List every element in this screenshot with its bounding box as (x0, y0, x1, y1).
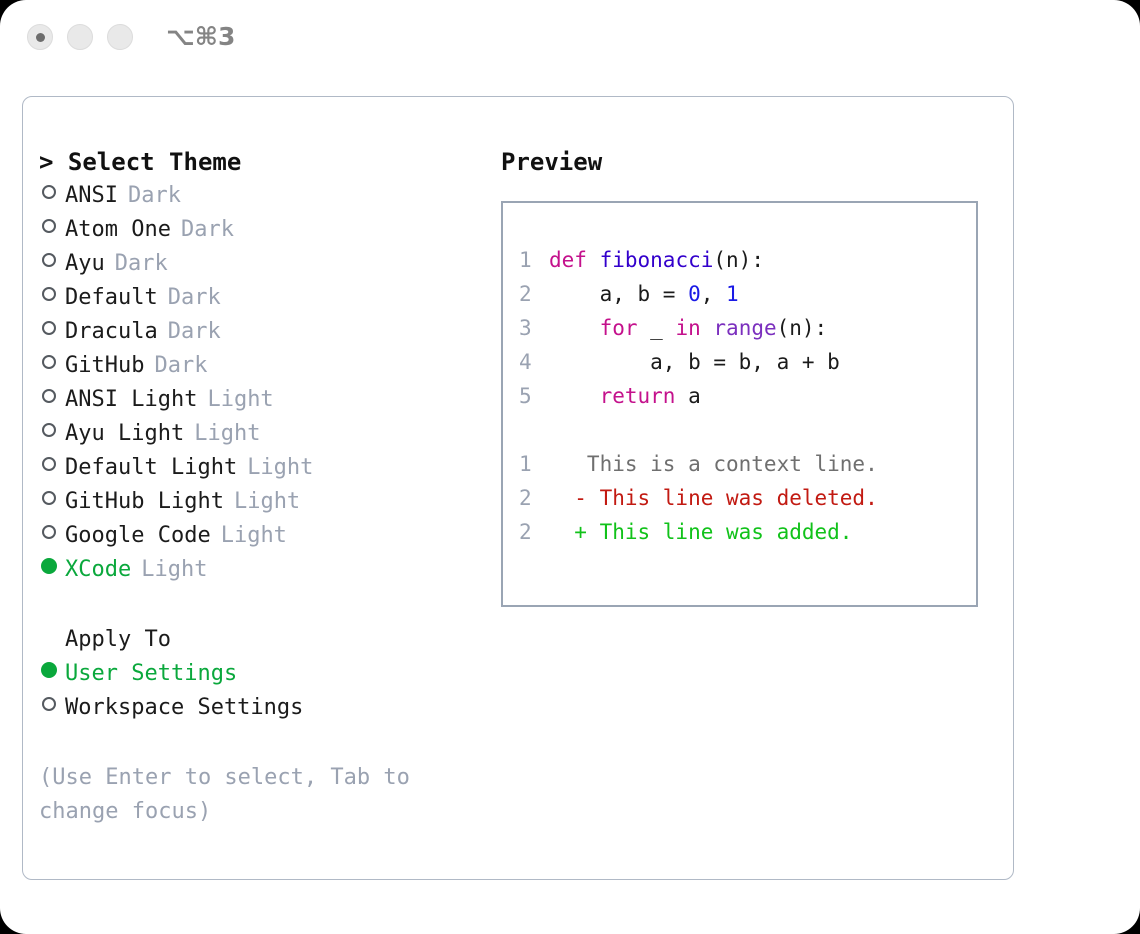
code-line-number: 1 (519, 243, 549, 277)
code-line-text: a, b = b, a + b (549, 345, 840, 379)
radio-empty-ring (42, 457, 56, 471)
diff-line-number: 2 (519, 515, 549, 549)
theme-option-label: GitHub Light (65, 485, 224, 519)
apply-option-label: User Settings (65, 657, 237, 691)
theme-option-badge: Light (221, 519, 287, 553)
code-line: 4 a, b = b, a + b (519, 345, 976, 379)
code-token-kw: def (549, 248, 587, 272)
title-bar: ⌥⌘3 (0, 0, 1140, 78)
theme-option-badge: Light (207, 383, 273, 417)
code-token-plain (549, 384, 600, 408)
diff-line-text-del: - This line was deleted. (549, 481, 878, 515)
radio-empty-ring (42, 287, 56, 301)
code-token-plain (701, 316, 714, 340)
code-token-kw: return (600, 384, 676, 408)
apply-option-0[interactable]: User Settings (39, 657, 479, 691)
code-line: 1def fibonacci(n): (519, 243, 976, 277)
code-line-number: 5 (519, 379, 549, 413)
code-line-text: def fibonacci(n): (549, 243, 764, 277)
theme-option-label: Default Light (65, 451, 237, 485)
code-token-plain (549, 316, 600, 340)
code-token-kw: in (675, 316, 700, 340)
code-token-plain (587, 248, 600, 272)
theme-option-11[interactable]: XCodeLight (39, 553, 479, 587)
preview-box: 1def fibonacci(n):2 a, b = 0, 13 for _ i… (501, 201, 978, 607)
theme-option-3[interactable]: DefaultDark (39, 281, 479, 315)
window-dot-active[interactable] (27, 24, 53, 50)
code-token-plain: (n): (713, 248, 764, 272)
theme-option-5[interactable]: GitHubDark (39, 349, 479, 383)
theme-option-label: ANSI Light (65, 383, 197, 417)
diff-line: 1 This is a context line. (519, 447, 976, 481)
code-sample: 1def fibonacci(n):2 a, b = 0, 13 for _ i… (519, 243, 976, 413)
radio-empty-ring (42, 389, 56, 403)
code-token-num: 0 (688, 282, 701, 306)
code-token-kw: for (600, 316, 638, 340)
code-token-plain: a (675, 384, 700, 408)
code-line-text: a, b = 0, 1 (549, 277, 739, 311)
theme-option-badge: Dark (115, 247, 168, 281)
theme-option-label: Dracula (65, 315, 158, 349)
theme-option-badge: Dark (168, 315, 221, 349)
code-token-bi: range (713, 316, 776, 340)
preview-heading: Preview (501, 145, 981, 179)
code-line: 2 a, b = 0, 1 (519, 277, 976, 311)
keyboard-shortcut-label: ⌥⌘3 (166, 22, 235, 51)
theme-option-7[interactable]: Ayu LightLight (39, 417, 479, 451)
theme-option-6[interactable]: ANSI LightLight (39, 383, 479, 417)
apply-to-heading: Apply To (39, 623, 479, 657)
theme-option-badge: Light (141, 553, 207, 587)
window-dot-two[interactable] (67, 24, 93, 50)
theme-option-2[interactable]: AyuDark (39, 247, 479, 281)
theme-option-badge: Dark (181, 213, 234, 247)
theme-option-label: Default (65, 281, 158, 315)
code-line: 5 return a (519, 379, 976, 413)
theme-option-label: XCode (65, 553, 131, 587)
apply-to-list: User SettingsWorkspace Settings (39, 657, 479, 725)
theme-option-1[interactable]: Atom OneDark (39, 213, 479, 247)
theme-option-label: Ayu (65, 247, 105, 281)
theme-option-badge: Dark (154, 349, 207, 383)
radio-empty-ring (42, 185, 56, 199)
code-token-plain: a, b = b, a + b (549, 350, 840, 374)
code-diff-spacer (519, 413, 976, 447)
diff-line-text-ctx: This is a context line. (549, 447, 878, 481)
preview-column: Preview 1def fibonacci(n):2 a, b = 0, 13… (501, 145, 981, 607)
code-token-fn: fibonacci (600, 248, 714, 272)
apply-option-1[interactable]: Workspace Settings (39, 691, 479, 725)
diff-line-number: 2 (519, 481, 549, 515)
code-line-number: 4 (519, 345, 549, 379)
radio-empty-ring (42, 219, 56, 233)
code-line-number: 3 (519, 311, 549, 345)
theme-option-badge: Light (247, 451, 313, 485)
radio-filled-dot (41, 662, 57, 678)
apply-option-label: Workspace Settings (65, 691, 303, 725)
diff-line-number: 1 (519, 447, 549, 481)
code-line-number: 2 (519, 277, 549, 311)
diff-line-text-add: + This line was added. (549, 515, 852, 549)
radio-filled-dot (41, 558, 57, 574)
theme-option-label: ANSI (65, 179, 118, 213)
theme-option-8[interactable]: Default LightLight (39, 451, 479, 485)
dialog-panel: > Select Theme ANSIDarkAtom OneDarkAyuDa… (22, 96, 1014, 880)
theme-option-badge: Light (234, 485, 300, 519)
keyboard-hint-text: (Use Enter to select, Tab to change focu… (39, 761, 439, 829)
window-dot-three[interactable] (107, 24, 133, 50)
diff-line: 2 - This line was deleted. (519, 481, 976, 515)
theme-option-4[interactable]: DraculaDark (39, 315, 479, 349)
theme-option-9[interactable]: GitHub LightLight (39, 485, 479, 519)
theme-option-label: Google Code (65, 519, 211, 553)
theme-selection-column: > Select Theme ANSIDarkAtom OneDarkAyuDa… (39, 145, 479, 829)
radio-empty-ring (42, 253, 56, 267)
code-line: 3 for _ in range(n): (519, 311, 976, 345)
window-dot-active-inner (36, 33, 45, 42)
theme-option-label: Ayu Light (65, 417, 184, 451)
theme-list: ANSIDarkAtom OneDarkAyuDarkDefaultDarkDr… (39, 179, 479, 587)
code-token-plain: , (701, 282, 726, 306)
code-token-plain: (n): (777, 316, 828, 340)
code-line-text: for _ in range(n): (549, 311, 827, 345)
code-token-num: 1 (726, 282, 739, 306)
diff-line: 2 + This line was added. (519, 515, 976, 549)
theme-option-label: Atom One (65, 213, 171, 247)
radio-empty-ring (42, 491, 56, 505)
radio-empty-ring (42, 321, 56, 335)
theme-option-badge: Dark (128, 179, 181, 213)
radio-empty-ring (42, 697, 56, 711)
theme-option-badge: Dark (168, 281, 221, 315)
radio-empty-ring (42, 525, 56, 539)
code-line-text: return a (549, 379, 701, 413)
code-token-plain: a, b = (549, 282, 688, 306)
theme-option-label: GitHub (65, 349, 144, 383)
radio-empty-ring (42, 355, 56, 369)
theme-option-10[interactable]: Google CodeLight (39, 519, 479, 553)
theme-option-0[interactable]: ANSIDark (39, 179, 479, 213)
select-theme-heading: > Select Theme (39, 145, 479, 179)
code-token-plain: _ (638, 316, 676, 340)
window-controls (27, 24, 133, 50)
apply-to-block: Apply To User SettingsWorkspace Settings (39, 623, 479, 725)
app-window: ⌥⌘3 > Select Theme ANSIDarkAtom OneDarkA… (0, 0, 1140, 934)
theme-option-badge: Light (194, 417, 260, 451)
diff-sample: 1 This is a context line.2 - This line w… (519, 447, 976, 549)
radio-empty-ring (42, 423, 56, 437)
